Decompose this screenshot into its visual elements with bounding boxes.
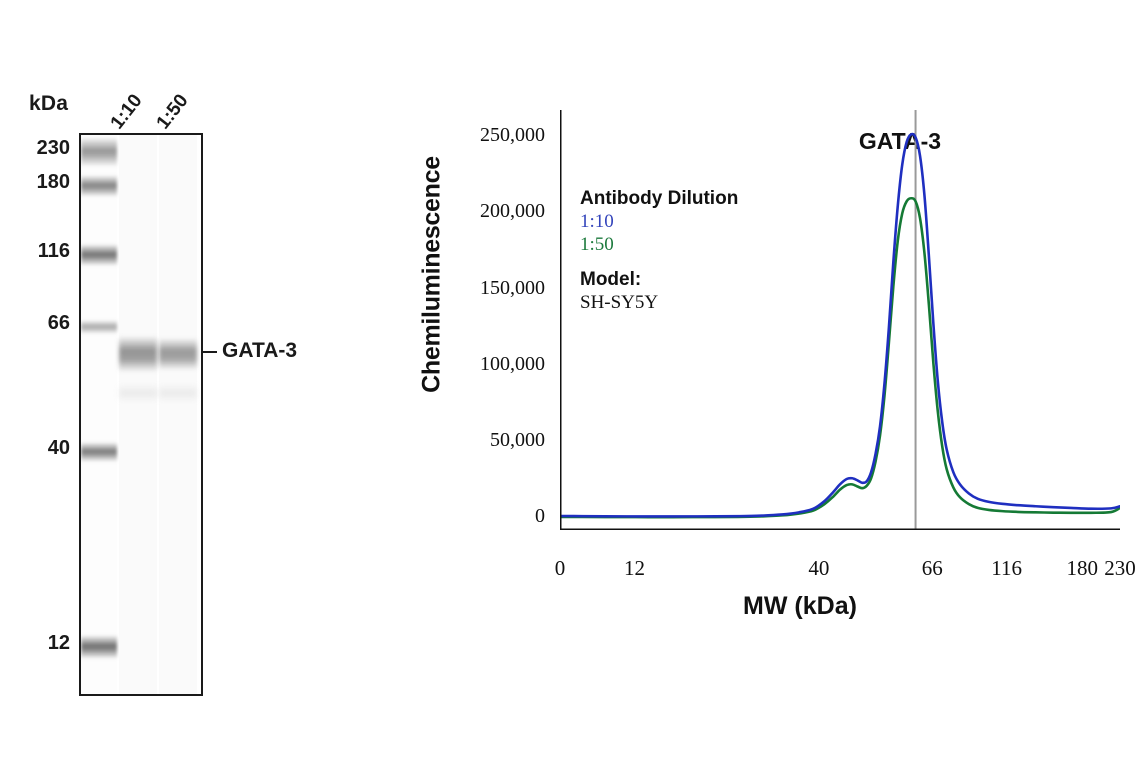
mw-label-180: 180 <box>24 171 70 194</box>
ladder-band-180 <box>81 175 117 197</box>
sample-band-faint-1-50 <box>159 384 197 402</box>
ladder-band-40 <box>81 442 117 462</box>
ladder-band-230 <box>81 137 117 167</box>
mw-label-40: 40 <box>24 437 70 460</box>
x-tick-label-0: 0 <box>530 556 590 581</box>
lane-header-1-50: 1:50 <box>153 90 194 134</box>
mw-label-66: 66 <box>24 312 70 335</box>
mw-label-12: 12 <box>24 632 70 655</box>
lane-sample-1-50 <box>159 135 197 694</box>
gata3-blot-label: GATA-3 <box>222 339 297 363</box>
figure-root: kDa 1:10 1:50 GATA-3 230180116664012 Che… <box>0 0 1141 768</box>
plot-area <box>560 110 1120 530</box>
y-tick-label-2: 100,000 <box>420 353 545 376</box>
sample-band-gata3-1-50 <box>159 338 197 370</box>
curve-1-50 <box>560 198 1120 517</box>
ladder-band-116 <box>81 244 117 266</box>
lane-ladder <box>81 135 117 694</box>
mw-label-116: 116 <box>24 240 70 263</box>
ladder-band-66 <box>81 320 117 334</box>
electropherogram-chart: Chemiluminescence MW (kDa) GATA-3 Antibo… <box>380 110 1141 670</box>
x-tick-label-4: 116 <box>977 556 1037 581</box>
mw-label-230: 230 <box>24 137 70 160</box>
x-tick-label-2: 40 <box>789 556 849 581</box>
y-tick-label-4: 200,000 <box>420 200 545 223</box>
x-tick-label-1: 12 <box>604 556 664 581</box>
curve-plot-svg <box>560 110 1120 530</box>
blot-image-frame <box>79 133 203 696</box>
lane-sample-1-10 <box>119 135 157 694</box>
kda-header-label: kDa <box>29 92 68 116</box>
curve-1-10 <box>560 134 1120 516</box>
y-tick-label-1: 50,000 <box>420 429 545 452</box>
sample-band-gata3-1-10 <box>119 336 157 372</box>
x-tick-label-3: 66 <box>902 556 962 581</box>
y-tick-label-0: 0 <box>420 505 545 528</box>
y-tick-label-3: 150,000 <box>420 277 545 300</box>
y-tick-label-5: 250,000 <box>420 124 545 147</box>
gata3-pointer-line <box>203 351 217 353</box>
ladder-band-12 <box>81 635 117 659</box>
x-tick-label-6: 230 <box>1090 556 1141 581</box>
lane-header-1-10: 1:10 <box>107 90 148 134</box>
western-blot-panel: kDa 1:10 1:50 GATA-3 230180116664012 <box>0 0 340 768</box>
x-axis-title: MW (kDa) <box>680 592 920 621</box>
sample-band-faint-1-10 <box>119 384 157 402</box>
axis-spines <box>560 110 1120 530</box>
